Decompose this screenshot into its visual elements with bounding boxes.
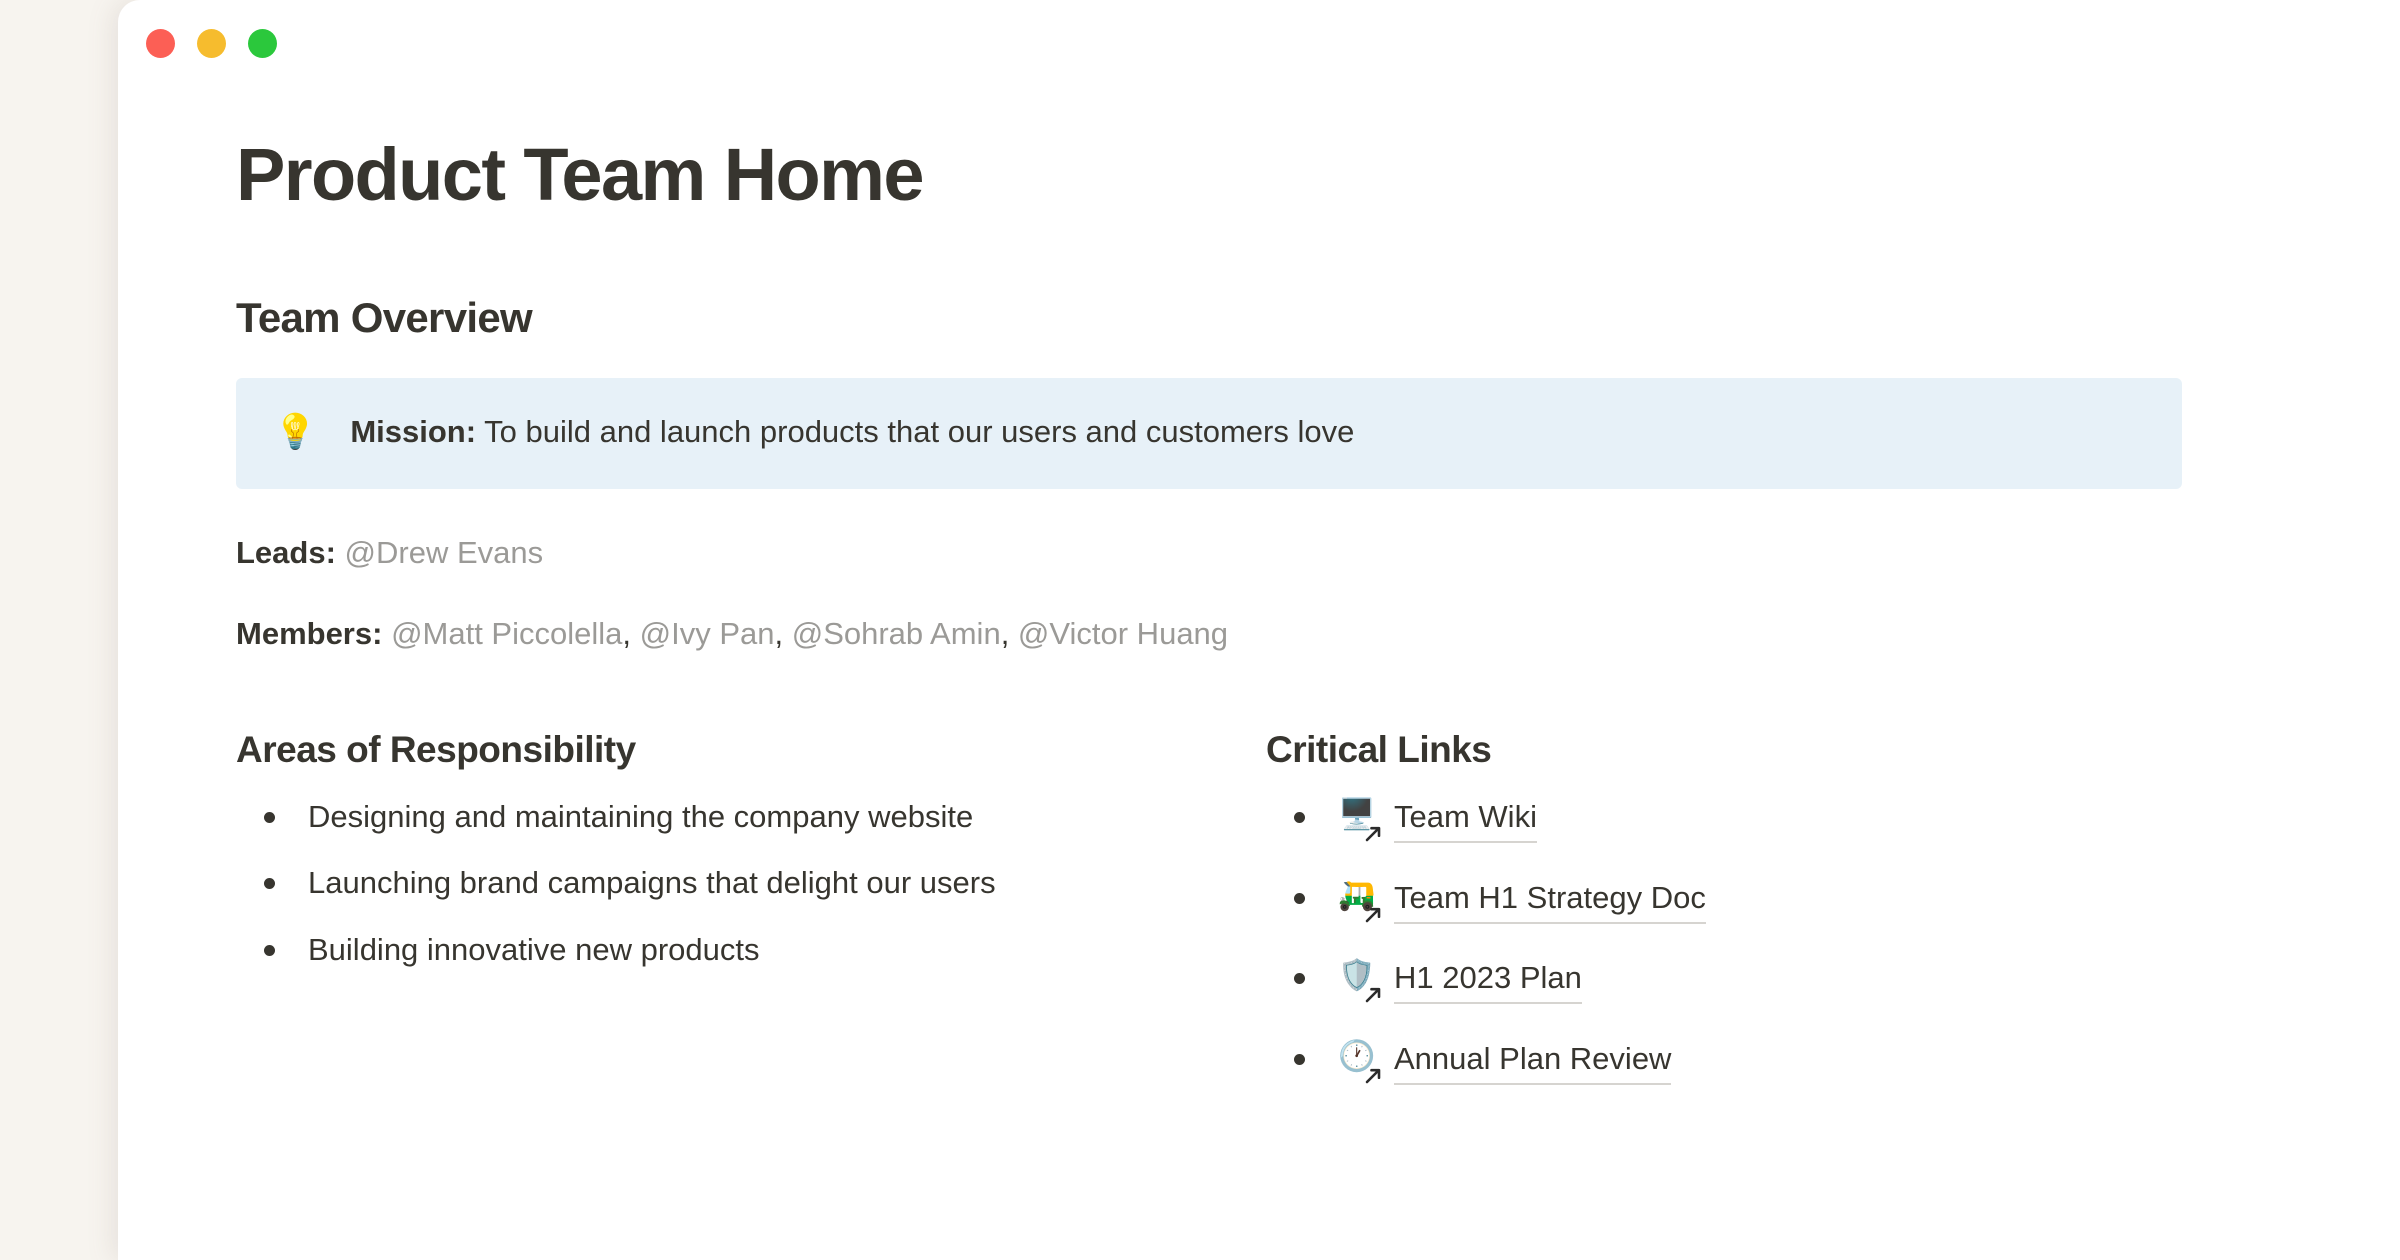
leads-label: Leads: — [236, 535, 336, 570]
maximize-button[interactable] — [248, 29, 277, 58]
external-link-arrow-icon — [1363, 905, 1383, 925]
responsibilities-column: Areas of Responsibility Designing and ma… — [236, 729, 1266, 1089]
responsibility-text: Building innovative new products — [308, 932, 760, 967]
list-item[interactable]: 🕐Annual Plan Review — [1266, 1039, 2266, 1089]
page-title[interactable]: Product Team Home — [236, 136, 2282, 214]
critical-link[interactable]: 🛡️H1 2023 Plan — [1338, 958, 1582, 1004]
responsibility-text: Designing and maintaining the company we… — [308, 799, 973, 834]
list-item[interactable]: 🖥️Team Wiki — [1266, 797, 2266, 847]
shield-icon: 🛡️ — [1338, 964, 1382, 998]
link-label[interactable]: Annual Plan Review — [1394, 1039, 1671, 1085]
app-window: Product Team Home Team Overview 💡 Missio… — [118, 0, 2400, 1260]
user-mention[interactable]: @Drew Evans — [345, 535, 544, 570]
mission-text: To build and launch products that our us… — [476, 414, 1354, 449]
members-label: Members: — [236, 616, 382, 651]
members-row: Members: @Matt Piccolella, @Ivy Pan, @So… — [236, 612, 2282, 657]
user-mention[interactable]: @Matt Piccolella — [391, 616, 622, 651]
responsibilities-heading[interactable]: Areas of Responsibility — [236, 729, 1266, 771]
mission-callout-text: Mission: To build and launch products th… — [350, 410, 1354, 454]
external-link-arrow-icon — [1363, 824, 1383, 844]
link-label[interactable]: Team Wiki — [1394, 797, 1537, 843]
mission-label: Mission: — [350, 414, 476, 449]
user-mention[interactable]: @Victor Huang — [1018, 616, 1228, 651]
desktop-background: Product Team Home Team Overview 💡 Missio… — [0, 0, 2400, 1260]
members-people: @Matt Piccolella, @Ivy Pan, @Sohrab Amin… — [391, 616, 1228, 651]
responsibilities-list: Designing and maintaining the company we… — [236, 797, 1266, 970]
auto-rickshaw-icon: 🛺 — [1338, 884, 1382, 918]
leads-row: Leads: @Drew Evans — [236, 531, 2282, 576]
user-mention[interactable]: @Ivy Pan — [640, 616, 775, 651]
desktop-computer-icon: 🖥️ — [1338, 803, 1382, 837]
critical-links-heading[interactable]: Critical Links — [1266, 729, 2266, 771]
critical-link[interactable]: 🛺Team H1 Strategy Doc — [1338, 878, 1706, 924]
window-titlebar[interactable] — [118, 0, 2400, 92]
critical-links-list: 🖥️Team Wiki🛺Team H1 Strategy Doc🛡️H1 202… — [1266, 797, 2266, 1089]
two-column-layout: Areas of Responsibility Designing and ma… — [236, 729, 2282, 1089]
lightbulb-icon: 💡 — [274, 410, 316, 455]
list-item[interactable]: Launching brand campaigns that delight o… — [236, 863, 1266, 903]
minimize-button[interactable] — [197, 29, 226, 58]
critical-links-column: Critical Links 🖥️Team Wiki🛺Team H1 Strat… — [1266, 729, 2266, 1089]
list-item[interactable]: 🛺Team H1 Strategy Doc — [1266, 878, 2266, 928]
list-item[interactable]: 🛡️H1 2023 Plan — [1266, 958, 2266, 1008]
section-heading-team-overview[interactable]: Team Overview — [236, 294, 2282, 342]
leads-people: @Drew Evans — [345, 535, 544, 570]
clock-icon: 🕐 — [1338, 1045, 1382, 1079]
mention-separator: , — [774, 616, 791, 651]
link-label[interactable]: H1 2023 Plan — [1394, 958, 1582, 1004]
user-mention[interactable]: @Sohrab Amin — [792, 616, 1001, 651]
mission-callout[interactable]: 💡 Mission: To build and launch products … — [236, 378, 2182, 489]
close-button[interactable] — [146, 29, 175, 58]
responsibility-text: Launching brand campaigns that delight o… — [308, 865, 996, 900]
mention-separator: , — [1001, 616, 1018, 651]
external-link-arrow-icon — [1363, 1066, 1383, 1086]
critical-link[interactable]: 🖥️Team Wiki — [1338, 797, 1537, 843]
list-item[interactable]: Building innovative new products — [236, 930, 1266, 970]
list-item[interactable]: Designing and maintaining the company we… — [236, 797, 1266, 837]
critical-link[interactable]: 🕐Annual Plan Review — [1338, 1039, 1671, 1085]
link-label[interactable]: Team H1 Strategy Doc — [1394, 878, 1706, 924]
mention-separator: , — [622, 616, 639, 651]
document-content: Product Team Home Team Overview 💡 Missio… — [118, 92, 2400, 1089]
traffic-light-group — [146, 29, 277, 58]
external-link-arrow-icon — [1363, 985, 1383, 1005]
